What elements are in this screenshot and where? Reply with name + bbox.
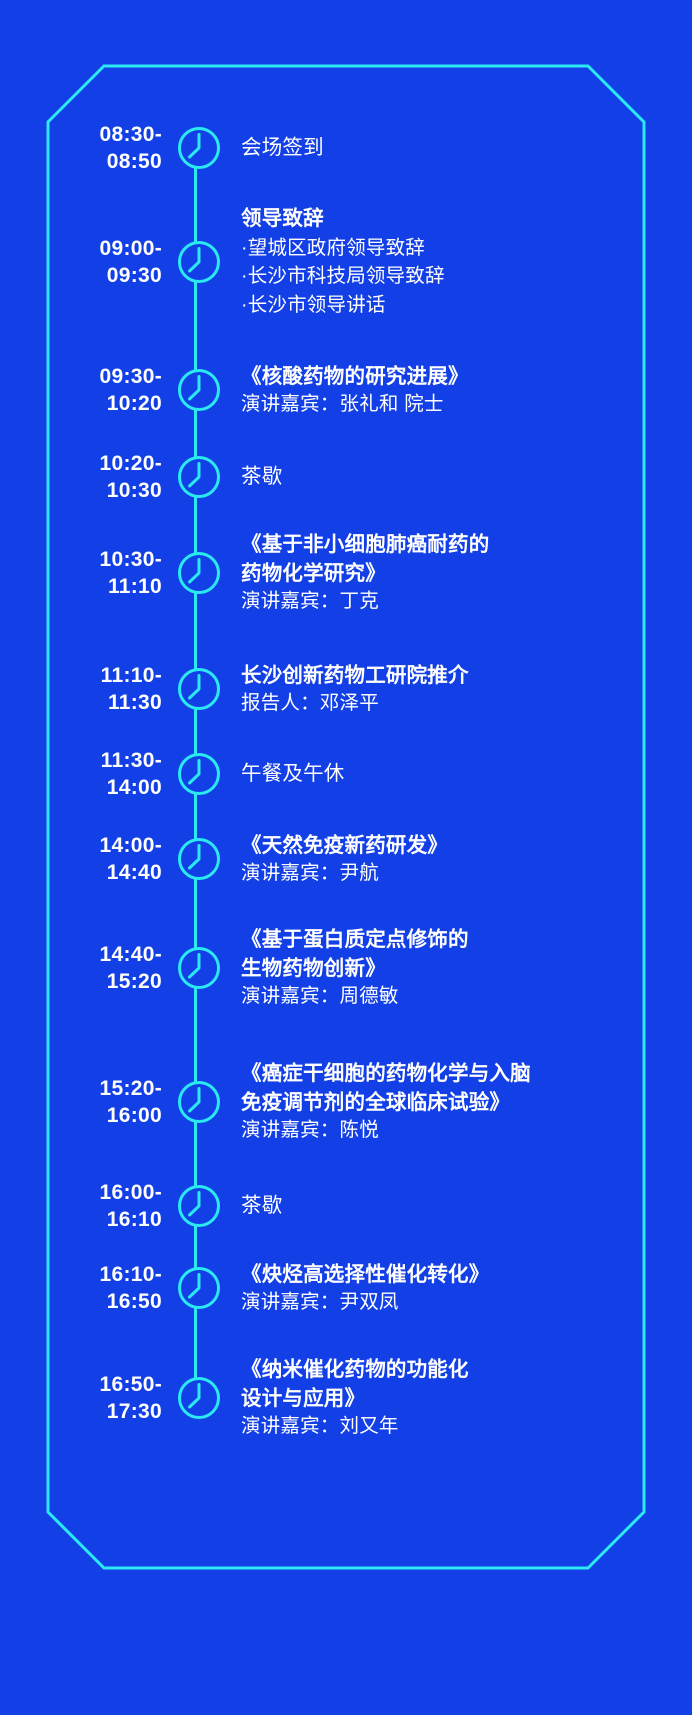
session-speaker: 演讲嘉宾：刘又年 [241, 1413, 692, 1441]
time-range: 14:40- 15:20 [0, 941, 175, 996]
clock-icon [175, 835, 223, 883]
session-title: 领导致辞 [241, 204, 692, 233]
session-bullet-item: ·长沙市领导讲话 [241, 291, 692, 320]
session-speaker: 演讲嘉宾：陈悦 [241, 1117, 692, 1145]
session-title: 《天然免疫新药研发》 [241, 831, 692, 860]
timeline-row: 14:00- 14:40《天然免疫新药研发》演讲嘉宾：尹航 [0, 799, 692, 919]
timeline-row: 15:20- 16:00《癌症干细胞的药物化学与入脑 免疫调节剂的全球临床试验》… [0, 1042, 692, 1162]
agenda-poster: 08:30- 08:50会场签到09:00- 09:30领导致辞·望城区政府领导… [0, 0, 692, 1715]
session-bullet-item: ·望城区政府领导致辞 [241, 234, 692, 263]
clock-icon [175, 238, 223, 286]
time-range: 14:00- 14:40 [0, 832, 175, 887]
clock-icon [175, 944, 223, 992]
session-title: 《癌症干细胞的药物化学与入脑 免疫调节剂的全球临床试验》 [241, 1059, 692, 1117]
clock-icon [175, 1078, 223, 1126]
session-content: 长沙创新药物工研院推介报告人：邓泽平 [223, 661, 692, 718]
session-content: 《核酸药物的研究进展》演讲嘉宾：张礼和 院士 [223, 362, 692, 419]
clock-icon [175, 124, 223, 172]
session-content: 茶歇 [223, 462, 692, 491]
time-range: 10:20- 10:30 [0, 450, 175, 505]
timeline-row: 08:30- 08:50会场签到 [0, 88, 692, 208]
session-content: 《炔烃高选择性催化转化》演讲嘉宾：尹双凤 [223, 1260, 692, 1317]
session-content: 午餐及午休 [223, 759, 692, 788]
clock-icon [175, 750, 223, 798]
session-title: 《核酸药物的研究进展》 [241, 362, 692, 391]
time-range: 16:10- 16:50 [0, 1261, 175, 1316]
session-bullet-item: ·长沙市科技局领导致辞 [241, 262, 692, 291]
timeline-row: 16:50- 17:30《纳米催化药物的功能化 设计与应用》演讲嘉宾：刘又年 [0, 1338, 692, 1458]
session-content: 茶歇 [223, 1191, 692, 1220]
clock-icon [175, 366, 223, 414]
time-range: 11:30- 14:00 [0, 747, 175, 802]
clock-icon [175, 453, 223, 501]
timeline-row: 14:40- 15:20《基于蛋白质定点修饰的 生物药物创新》演讲嘉宾：周德敏 [0, 908, 692, 1028]
timeline-row: 09:00- 09:30领导致辞·望城区政府领导致辞·长沙市科技局领导致辞·长沙… [0, 202, 692, 322]
session-label: 茶歇 [241, 462, 692, 491]
session-content: 会场签到 [223, 133, 692, 162]
session-title: 长沙创新药物工研院推介 [241, 661, 692, 690]
time-range: 15:20- 16:00 [0, 1075, 175, 1130]
time-range: 09:00- 09:30 [0, 235, 175, 290]
time-range: 16:50- 17:30 [0, 1371, 175, 1426]
timeline-row: 16:10- 16:50《炔烃高选择性催化转化》演讲嘉宾：尹双凤 [0, 1228, 692, 1348]
session-speaker: 演讲嘉宾：尹双凤 [241, 1289, 692, 1317]
clock-icon [175, 665, 223, 713]
time-range: 08:30- 08:50 [0, 121, 175, 176]
session-speaker: 演讲嘉宾：周德敏 [241, 983, 692, 1011]
session-content: 《基于非小细胞肺癌耐药的 药物化学研究》演讲嘉宾：丁克 [223, 530, 692, 616]
session-content: 《基于蛋白质定点修饰的 生物药物创新》演讲嘉宾：周德敏 [223, 925, 692, 1011]
timeline-row: 10:30- 11:10《基于非小细胞肺癌耐药的 药物化学研究》演讲嘉宾：丁克 [0, 513, 692, 633]
session-content: 领导致辞·望城区政府领导致辞·长沙市科技局领导致辞·长沙市领导讲话 [223, 204, 692, 319]
clock-icon [175, 1264, 223, 1312]
session-title: 《基于非小细胞肺癌耐药的 药物化学研究》 [241, 530, 692, 588]
session-label: 午餐及午休 [241, 759, 692, 788]
time-range: 16:00- 16:10 [0, 1179, 175, 1234]
session-speaker: 演讲嘉宾：尹航 [241, 860, 692, 888]
session-content: 《天然免疫新药研发》演讲嘉宾：尹航 [223, 831, 692, 888]
session-label: 茶歇 [241, 1191, 692, 1220]
session-speaker: 演讲嘉宾：张礼和 院士 [241, 391, 692, 419]
session-content: 《纳米催化药物的功能化 设计与应用》演讲嘉宾：刘又年 [223, 1355, 692, 1441]
session-speaker: 演讲嘉宾：丁克 [241, 588, 692, 616]
time-range: 09:30- 10:20 [0, 363, 175, 418]
clock-icon [175, 1374, 223, 1422]
session-content: 《癌症干细胞的药物化学与入脑 免疫调节剂的全球临床试验》演讲嘉宾：陈悦 [223, 1059, 692, 1145]
time-range: 11:10- 11:30 [0, 662, 175, 717]
session-title: 《基于蛋白质定点修饰的 生物药物创新》 [241, 925, 692, 983]
timeline: 08:30- 08:50会场签到09:00- 09:30领导致辞·望城区政府领导… [0, 0, 692, 1715]
session-label: 会场签到 [241, 133, 692, 162]
clock-icon [175, 1182, 223, 1230]
session-title: 《纳米催化药物的功能化 设计与应用》 [241, 1355, 692, 1413]
session-title: 《炔烃高选择性催化转化》 [241, 1260, 692, 1289]
time-range: 10:30- 11:10 [0, 546, 175, 601]
session-bullet-list: ·望城区政府领导致辞·长沙市科技局领导致辞·长沙市领导讲话 [241, 234, 692, 320]
clock-icon [175, 549, 223, 597]
